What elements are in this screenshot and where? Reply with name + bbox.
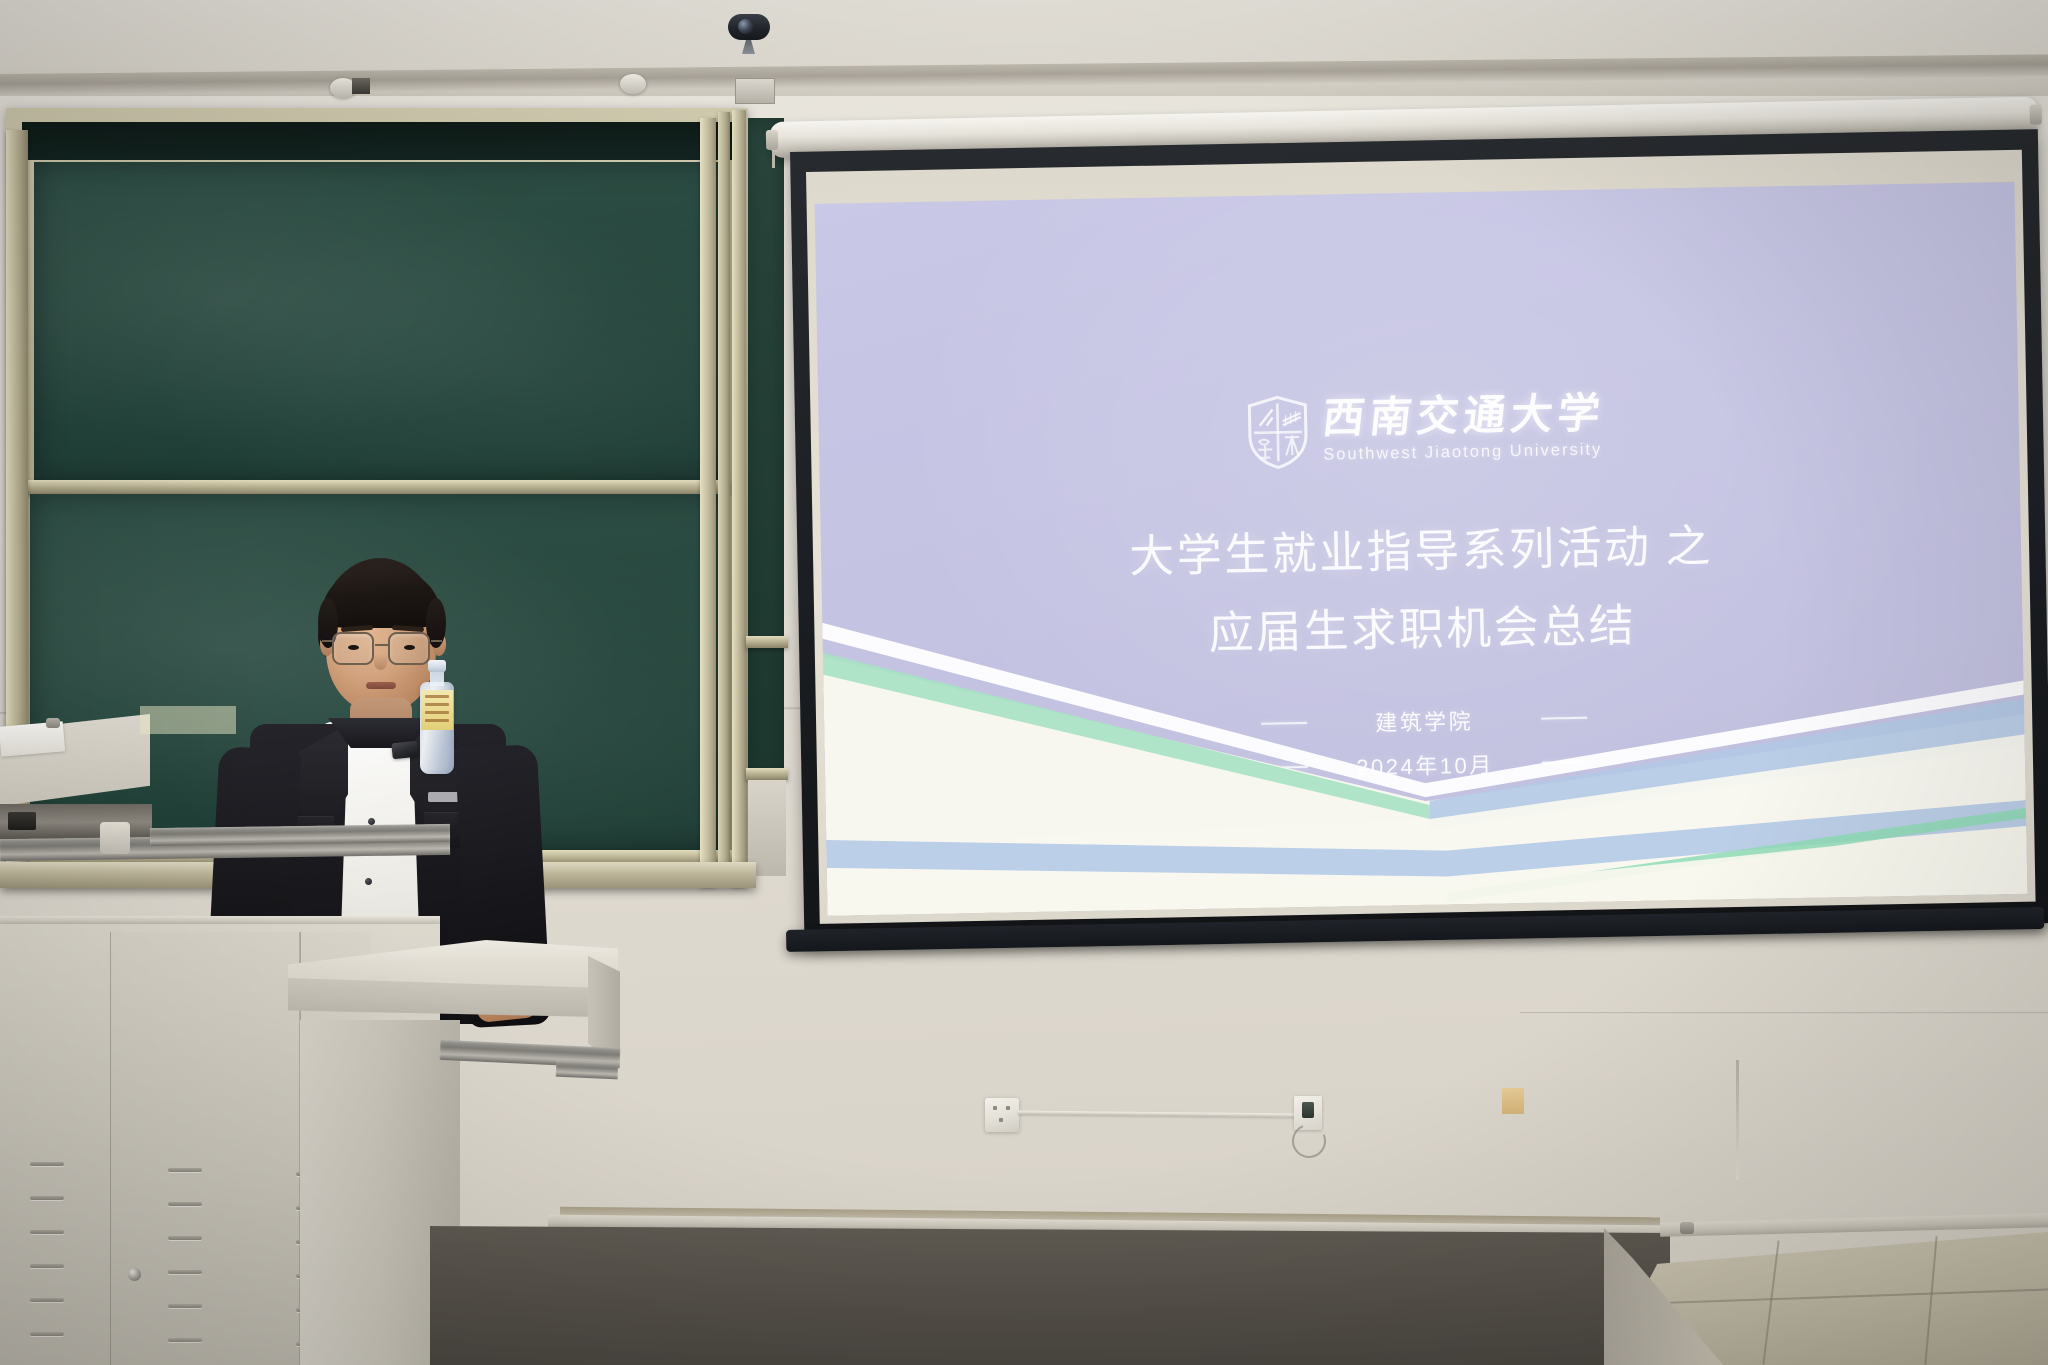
presentation-slide: 西南交通大学 Southwest Jiaotong University 大学生… bbox=[815, 182, 2028, 916]
blackboard-panel-rear bbox=[748, 118, 784, 858]
blackboard-rail-middle bbox=[24, 480, 730, 494]
ceiling-bracket bbox=[352, 78, 370, 94]
power-outlet[interactable] bbox=[985, 1098, 1019, 1132]
ceiling-junction-box bbox=[735, 78, 775, 104]
wall-tape-mark bbox=[1502, 1088, 1524, 1114]
jacket-button-2 bbox=[365, 878, 372, 885]
blackboard-rail-track-2 bbox=[718, 112, 730, 884]
slide-wave-decoration bbox=[822, 595, 2027, 916]
projection-screen-surface[interactable]: 西南交通大学 Southwest Jiaotong University 大学生… bbox=[806, 150, 2036, 924]
logo-name-cn: 西南交通大学 bbox=[1320, 393, 1606, 440]
wall-seam-right bbox=[1520, 1012, 2048, 1014]
ceiling-fixture-right bbox=[620, 74, 646, 94]
slide-title-line1: 大学生就业指导系列活动 之 bbox=[821, 512, 2022, 592]
console-latch[interactable] bbox=[46, 718, 60, 728]
floor-bracket bbox=[1680, 1222, 1694, 1234]
classroom-photo: 西南交通大学 Southwest Jiaotong University 大学生… bbox=[0, 0, 2048, 1365]
cabinet-lock-icon[interactable] bbox=[128, 1268, 141, 1281]
console-port bbox=[8, 812, 36, 830]
blackboard-top-gap bbox=[22, 122, 734, 160]
blackboard-rear-rail-2 bbox=[746, 768, 788, 780]
security-camera-icon bbox=[728, 14, 772, 56]
water-bottle[interactable] bbox=[420, 660, 456, 776]
blackboard-panel-upper bbox=[34, 162, 726, 480]
university-logo: 西南交通大学 Southwest Jiaotong University bbox=[1246, 389, 1605, 470]
logo-name-en: Southwest Jiaotong University bbox=[1323, 440, 1605, 464]
rail-stopper bbox=[100, 822, 130, 854]
presenter-mouth bbox=[366, 682, 396, 689]
podium-keyboard-rail-2 bbox=[556, 1061, 619, 1080]
mobile-phone[interactable] bbox=[391, 741, 419, 760]
screen-hook-left bbox=[772, 152, 775, 168]
cabinet-door[interactable] bbox=[110, 932, 300, 1365]
classroom-platform-floor bbox=[430, 1226, 1670, 1365]
presenter-nose bbox=[374, 654, 387, 670]
blackboard-rail-track-3 bbox=[732, 110, 746, 886]
jacket-button-1 bbox=[368, 818, 375, 825]
blackboard-rear-rail bbox=[746, 636, 788, 648]
wall-seam-vertical bbox=[1736, 1060, 1739, 1180]
university-shield-icon bbox=[1246, 395, 1309, 470]
blackboard-rail-track-1 bbox=[700, 118, 716, 886]
cabinet-sticker bbox=[140, 706, 236, 734]
